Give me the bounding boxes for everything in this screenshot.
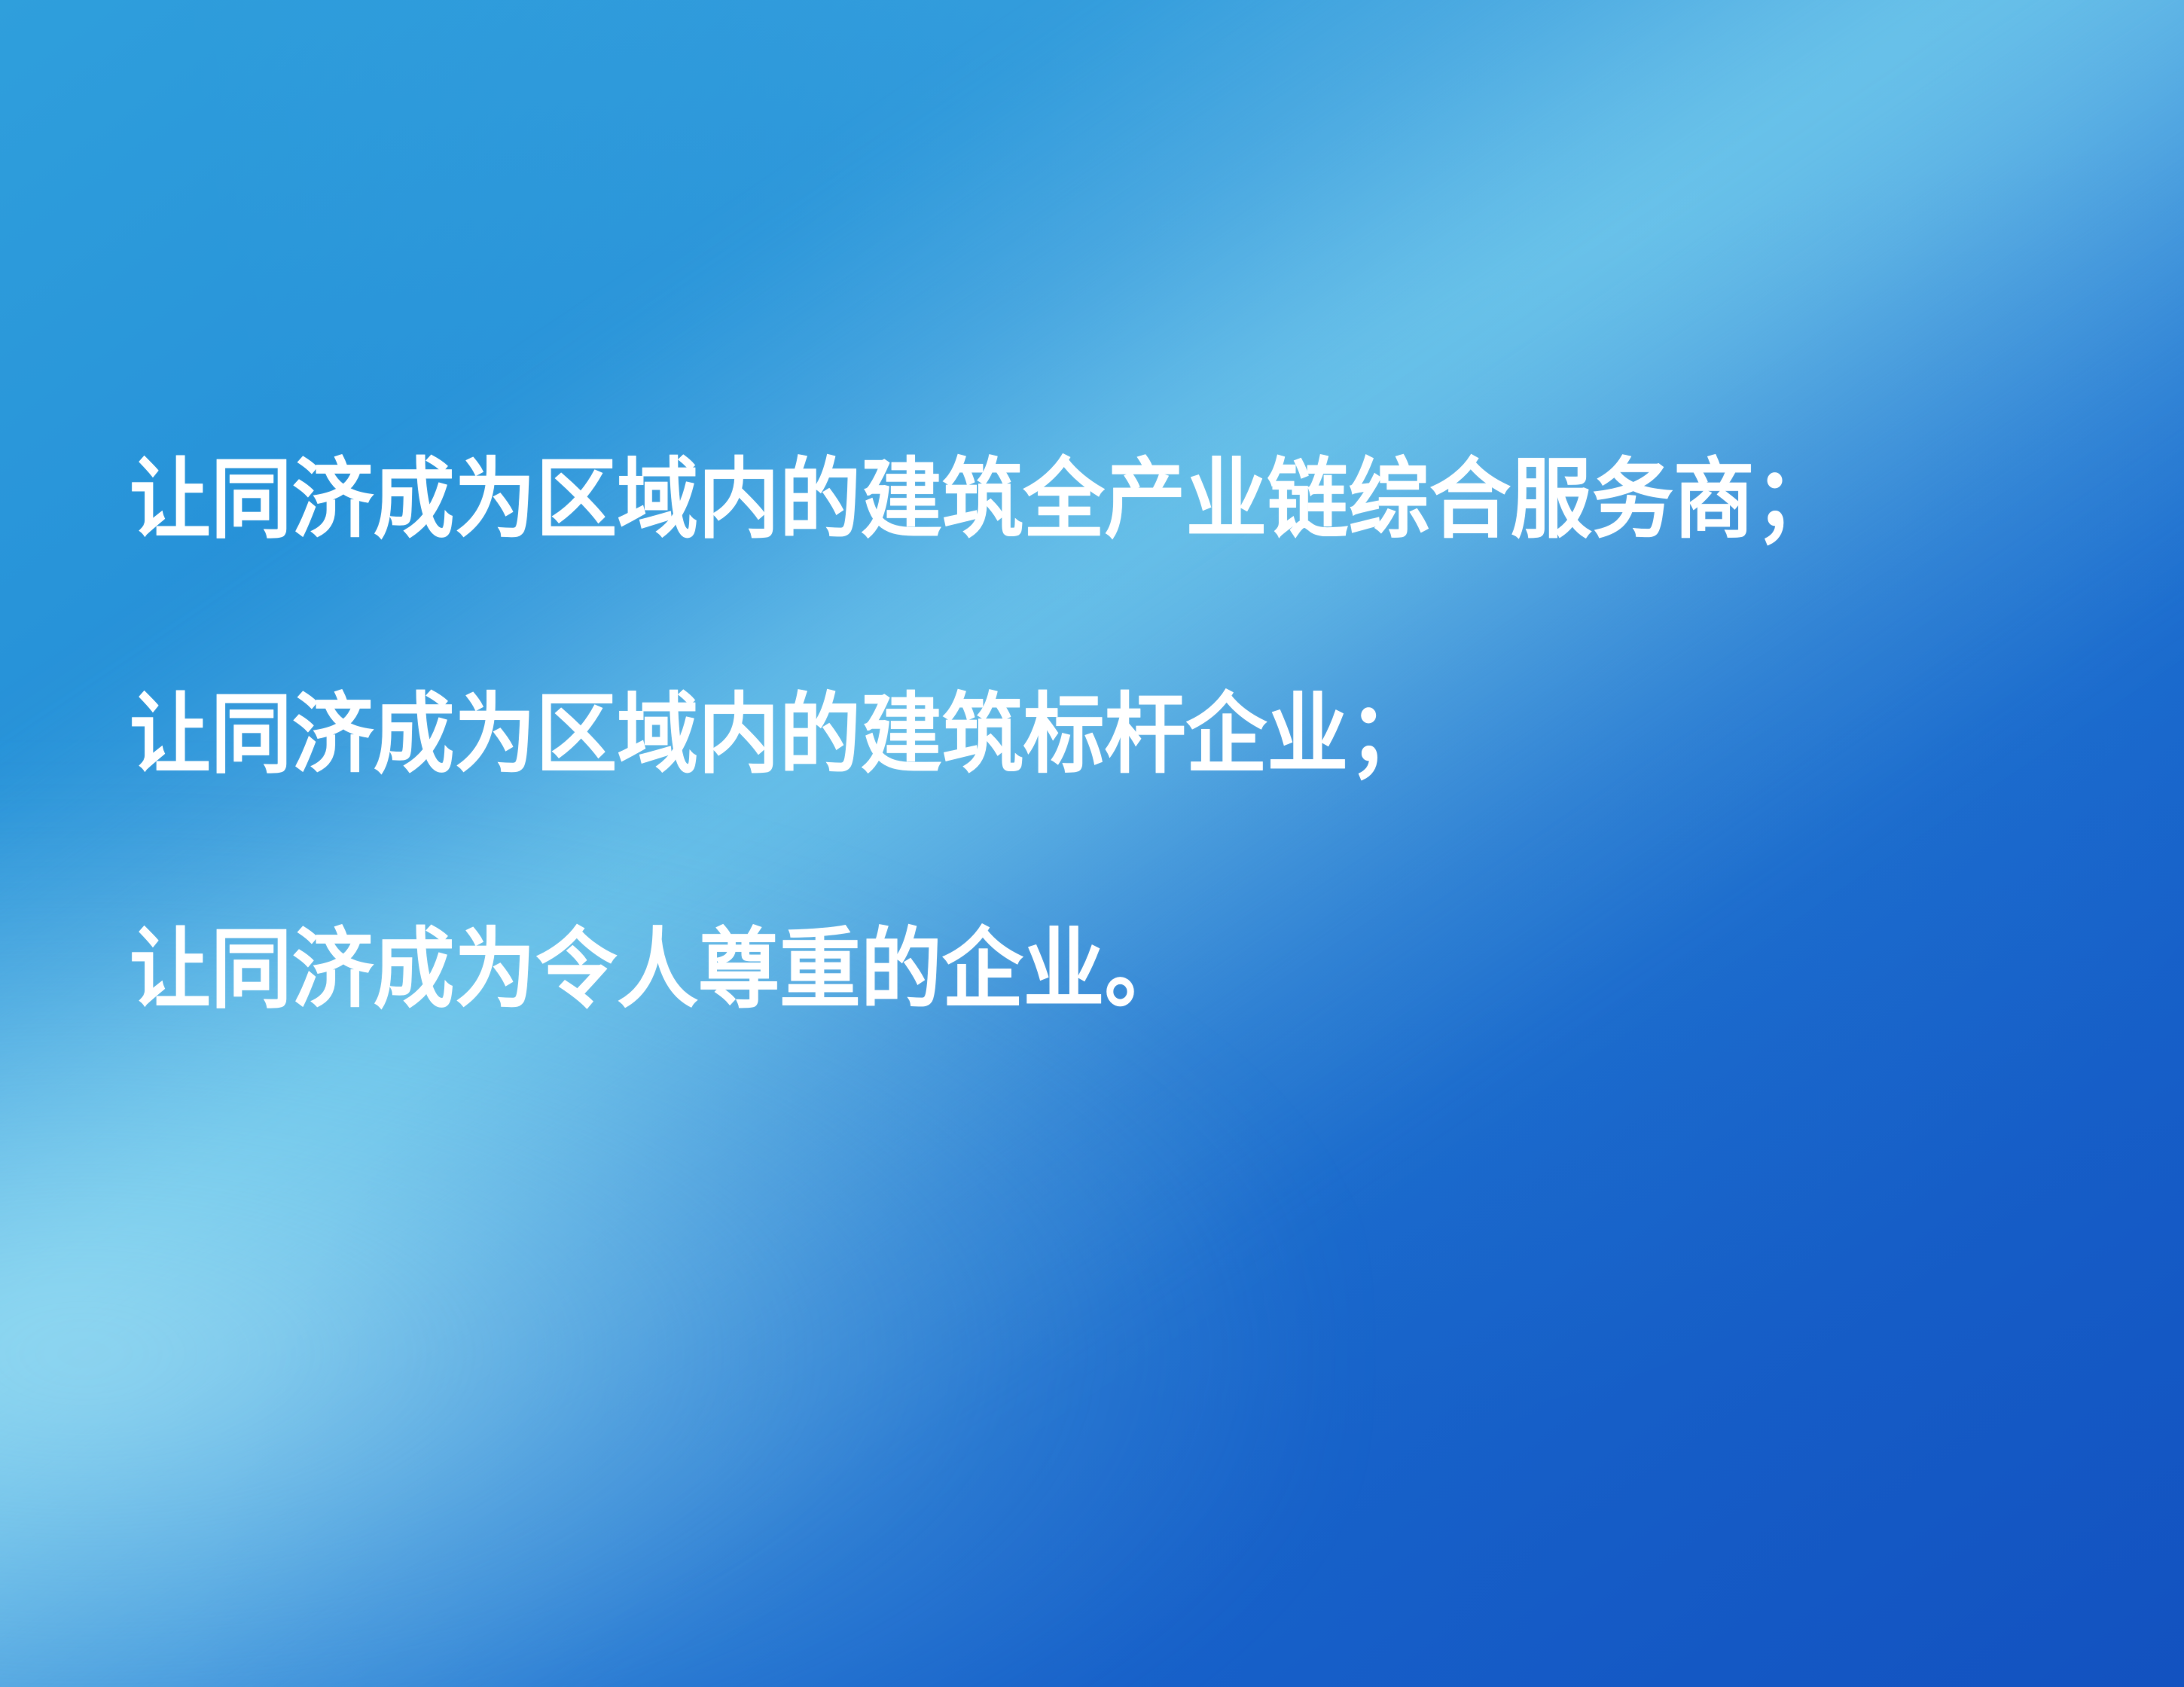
- slide-line-3-text: 让同济成为令人尊重的企业。: [130, 914, 1185, 1024]
- slide-line-1-text: 让同济成为区域内的建筑全产业链综合服务商；: [130, 444, 1835, 554]
- slide-line-2: 让同济成为区域内的建筑标杆企业；: [130, 679, 2118, 914]
- presentation-slide: 让同济成为区域内的建筑全产业链综合服务商； 让同济成为区域内的建筑标杆企业； 让…: [0, 0, 2184, 1687]
- slide-line-1: 让同济成为区域内的建筑全产业链综合服务商；: [130, 444, 2118, 679]
- slide-line-2-text: 让同济成为区域内的建筑标杆企业；: [130, 679, 1429, 789]
- slide-line-3: 让同济成为令人尊重的企业。: [130, 914, 2118, 1024]
- slide-text-block: 让同济成为区域内的建筑全产业链综合服务商； 让同济成为区域内的建筑标杆企业； 让…: [130, 444, 2118, 1024]
